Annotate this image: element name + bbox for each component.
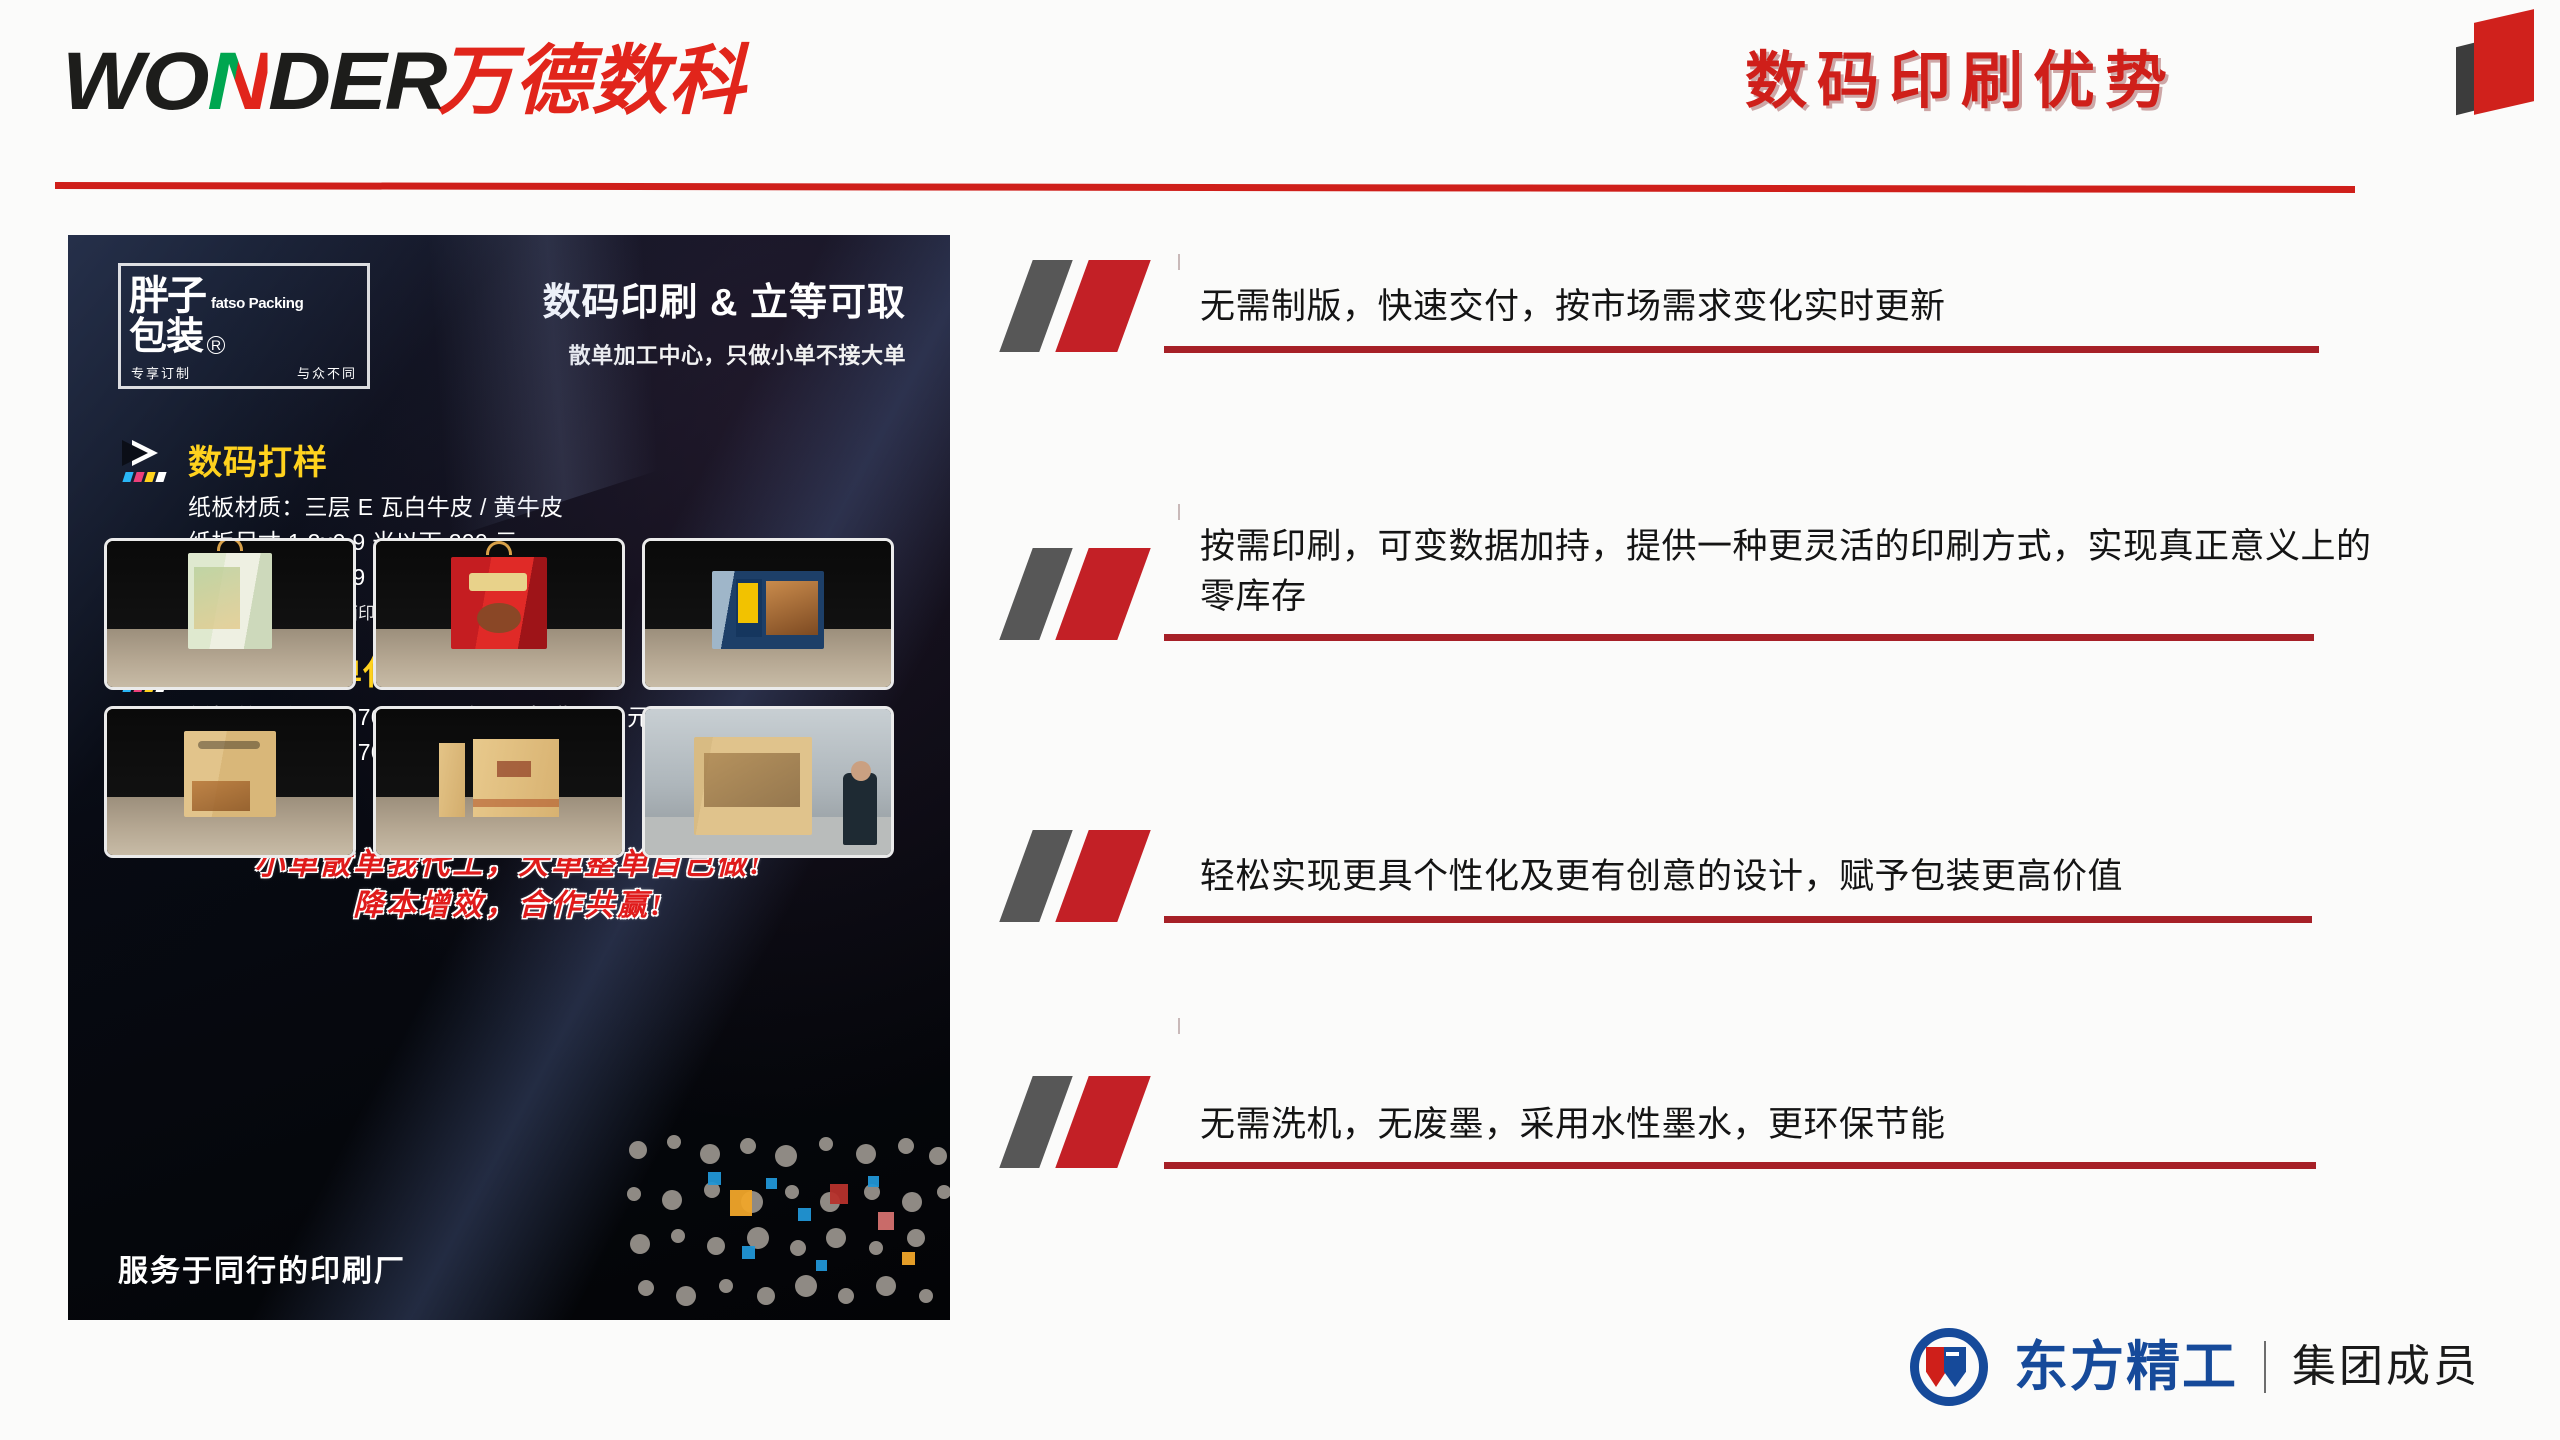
- fatso-logo-chinese: 胖子: [129, 277, 205, 315]
- book-corner-icon: [2456, 6, 2542, 114]
- photo-landscape-large-carton: [642, 706, 894, 858]
- advantage-text-3: 轻松实现更具个性化及更有创意的设计，赋予包装更高价值: [1200, 852, 2460, 902]
- advantage-text-1: 无需制版，快速交付，按市场需求变化实时更新: [1200, 282, 2460, 332]
- fatso-logo-taglines: 专享订制 与众不同: [129, 363, 359, 382]
- photo-red-chicken-gift-box: [373, 538, 625, 690]
- tick-mark: [1178, 1018, 1180, 1034]
- page-title: 数码印刷优势: [1745, 30, 2177, 120]
- advantage-item-2: 按需印刷，可变数据加持，提供一种更灵活的印刷方式，实现真正意义上的零库存: [1000, 510, 2480, 810]
- slide-header: WONDER 万德数科 数码印刷优势: [0, 0, 2560, 200]
- corner-mark-red-page: [2474, 9, 2534, 115]
- group-member-footer-logo: 东方精工 集团成员: [1910, 1328, 2480, 1406]
- bullet-marker-icon: [1006, 260, 1176, 352]
- advantage-item-4: 无需洗机，无废墨，采用水性墨水，更环保节能: [1000, 1030, 2480, 1230]
- poster-headline-block: 数码印刷 & 立等可取 散单加工中心，只做小单不接大单: [542, 271, 906, 370]
- poster-footer-text: 服务于同行的印刷厂: [118, 1246, 406, 1290]
- promo-poster-image: 胖子 fatso Packing 包装 R 专享订制 与众不同 数码印刷 & 立…: [68, 235, 950, 1320]
- brand-latin-pre: WO: [62, 41, 207, 123]
- fatso-logo-top-row: 胖子 fatso Packing: [129, 272, 359, 315]
- footer-member-label: 集团成员: [2292, 1345, 2480, 1389]
- poster-section-1-title: 数码打样: [188, 435, 328, 484]
- footer-company-name: 东方精工: [2014, 1340, 2238, 1394]
- advantage-rule-2: [1164, 634, 2314, 641]
- poster-section-1-line-1: 纸板材质：三层 E 瓦白牛皮 / 黄牛皮: [188, 490, 579, 525]
- brand-latin-wordmark: WONDER: [62, 41, 445, 123]
- dot-pattern-decoration: [620, 1120, 950, 1320]
- brand-latin-post: DER: [268, 41, 445, 123]
- advantage-rule-4: [1164, 1162, 2316, 1169]
- advantage-item-3: 轻松实现更具个性化及更有创意的设计，赋予包装更高价值: [1000, 810, 2480, 1030]
- photo-classic-wine-carton: [373, 706, 625, 858]
- advantage-item-1: 无需制版，快速交付，按市场需求变化实时更新: [1000, 260, 2480, 510]
- brand-chinese-wordmark: 万德数科: [438, 44, 746, 120]
- photo-honey-gift-box: [104, 538, 356, 690]
- photo-beef-pie-carton: [642, 538, 894, 690]
- bullet-marker-icon: [1006, 1076, 1176, 1168]
- fatso-logo-packing: 包装: [129, 318, 203, 356]
- wonder-brand-logo: WONDER 万德数科: [62, 34, 746, 130]
- tick-mark: [1178, 254, 1180, 270]
- poster-slogan-line-2: 降本增效，合作共赢!: [68, 886, 950, 927]
- bullet-marker-icon: [1006, 830, 1176, 922]
- bullet-marker-icon: [1006, 548, 1176, 640]
- advantages-list: 无需制版，快速交付，按市场需求变化实时更新 按需印刷，可变数据加持，提供一种更灵…: [1000, 260, 2480, 1230]
- chevron-right-icon: [122, 438, 174, 482]
- fatso-logo-bottom-row: 包装 R: [129, 317, 359, 357]
- advantage-text-4: 无需洗机，无废墨，采用水性墨水，更环保节能: [1200, 1100, 2460, 1150]
- photo-kraft-gable-box: [104, 706, 356, 858]
- advantage-rule-1: [1164, 346, 2319, 353]
- registered-trademark-icon: R: [207, 336, 225, 354]
- advantage-rule-3: [1164, 916, 2312, 923]
- fatso-tagline-right: 与众不同: [297, 363, 357, 382]
- poster-photo-grid: [104, 538, 914, 858]
- dongfang-shield-icon: [1910, 1328, 1988, 1406]
- header-divider-rule: [55, 182, 2355, 193]
- brand-latin-n: N: [207, 41, 268, 123]
- footer-divider: [2264, 1341, 2266, 1393]
- fatso-logo-english: fatso Packing: [211, 296, 303, 315]
- fatso-tagline-left: 专享订制: [131, 363, 191, 382]
- slide-root: WONDER 万德数科 数码印刷优势 胖子 fatso Packing 包装 R…: [0, 0, 2560, 1440]
- tick-mark: [1178, 504, 1180, 520]
- fatso-packing-logo: 胖子 fatso Packing 包装 R 专享订制 与众不同: [118, 263, 370, 389]
- poster-headline: 数码印刷 & 立等可取: [542, 271, 906, 326]
- advantage-text-2: 按需印刷，可变数据加持，提供一种更灵活的印刷方式，实现真正意义上的零库存: [1200, 522, 2380, 621]
- poster-subheadline: 散单加工中心，只做小单不接大单: [542, 338, 906, 370]
- poster-section-1-header: 数码打样: [122, 435, 579, 484]
